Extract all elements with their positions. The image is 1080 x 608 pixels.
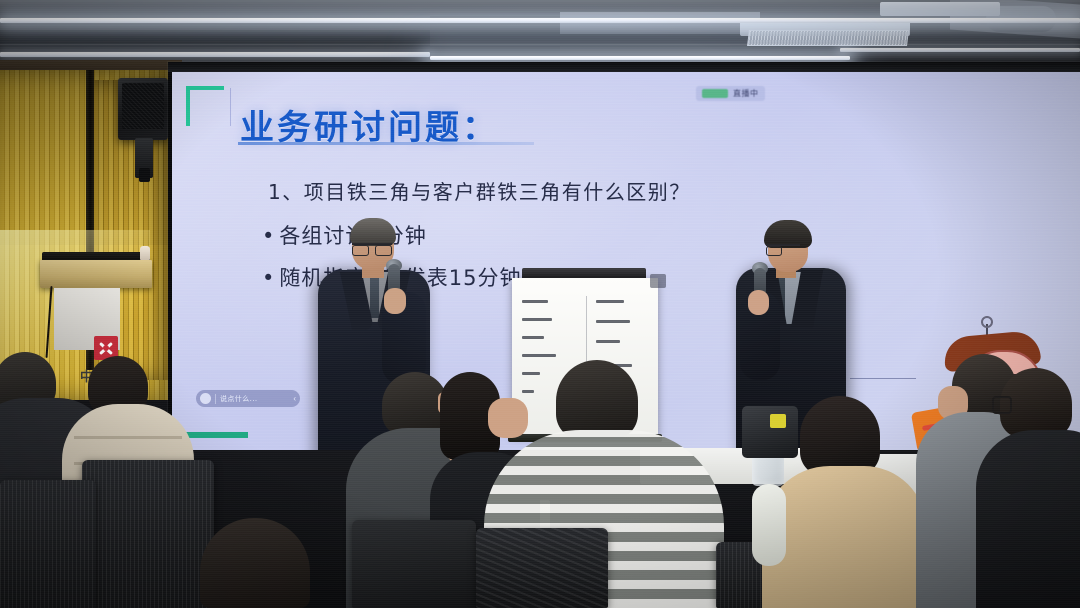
audience-head bbox=[556, 360, 638, 440]
comment-placeholder[interactable]: 说点什么... bbox=[220, 394, 289, 404]
ceiling-light-strip bbox=[430, 56, 850, 60]
live-stream-watermark: 直播中 bbox=[696, 86, 765, 101]
slide-corner-bracket-icon bbox=[186, 86, 224, 126]
chair bbox=[82, 460, 214, 608]
comment-input-bar[interactable]: 说点什么... ‹ bbox=[196, 390, 300, 407]
illustration-antenna-ball bbox=[981, 316, 993, 328]
speaker-mount-base bbox=[139, 168, 150, 182]
slide-corner-bar-icon bbox=[186, 432, 248, 438]
podium-cup bbox=[140, 246, 150, 260]
podium bbox=[40, 260, 152, 288]
chair bbox=[352, 520, 476, 608]
glasses-icon bbox=[992, 396, 1012, 414]
ceiling-duct bbox=[560, 12, 760, 34]
audience-body bbox=[976, 430, 1080, 608]
watermark-label: 直播中 bbox=[733, 88, 759, 99]
presenter-right-hand bbox=[748, 290, 769, 315]
illustration-line bbox=[850, 378, 916, 379]
question-number: 1、 bbox=[268, 180, 304, 204]
audience-head bbox=[800, 396, 880, 476]
avatar-icon bbox=[200, 393, 211, 404]
slide-question-line: 1、项目铁三角与客户群铁三角有什么区别？ bbox=[268, 176, 691, 205]
audience-sleeve bbox=[752, 484, 786, 566]
ceiling-light-strip bbox=[840, 48, 1080, 52]
bullet-marker-icon: • bbox=[262, 224, 275, 248]
divider bbox=[215, 394, 216, 404]
chair bbox=[476, 528, 608, 608]
presenter-left-hand bbox=[384, 288, 406, 314]
pa-speaker bbox=[118, 78, 168, 140]
meeting-room-photo: 中 业务研讨问题： 1、项目铁三角与客户群铁三角有什么区别？ •各组讨论X分钟 … bbox=[0, 0, 1080, 608]
audience-body bbox=[762, 466, 926, 608]
presenter-left-hair bbox=[350, 218, 396, 246]
logo-center-dot bbox=[103, 345, 109, 351]
watermark-chip-icon bbox=[702, 89, 728, 98]
share-icon[interactable]: ‹ bbox=[293, 394, 296, 403]
screen-top-bezel bbox=[168, 62, 1080, 72]
slide-title-underline bbox=[238, 142, 534, 145]
slide-separator bbox=[230, 88, 231, 126]
ac-unit bbox=[880, 2, 1000, 16]
question-text: 项目铁三角与客户群铁三角有什么区别？ bbox=[304, 180, 691, 204]
audience-hand bbox=[488, 398, 528, 438]
slide-bullet-1: •各组讨论X分钟 bbox=[262, 220, 427, 250]
ceiling-seam bbox=[0, 44, 1080, 45]
presenter-left-tie bbox=[370, 276, 379, 318]
speaker-grill bbox=[122, 83, 164, 129]
glasses-icon bbox=[352, 243, 392, 253]
ceiling-light-strip bbox=[0, 52, 430, 57]
glasses-icon bbox=[766, 244, 800, 253]
chair bbox=[0, 480, 96, 608]
jacket-seam bbox=[74, 436, 182, 439]
flipchart-corner-note bbox=[650, 274, 666, 288]
ceiling-light-strip bbox=[0, 18, 1080, 23]
camera-indicator bbox=[770, 414, 786, 428]
bullet-marker-icon: • bbox=[262, 266, 275, 290]
